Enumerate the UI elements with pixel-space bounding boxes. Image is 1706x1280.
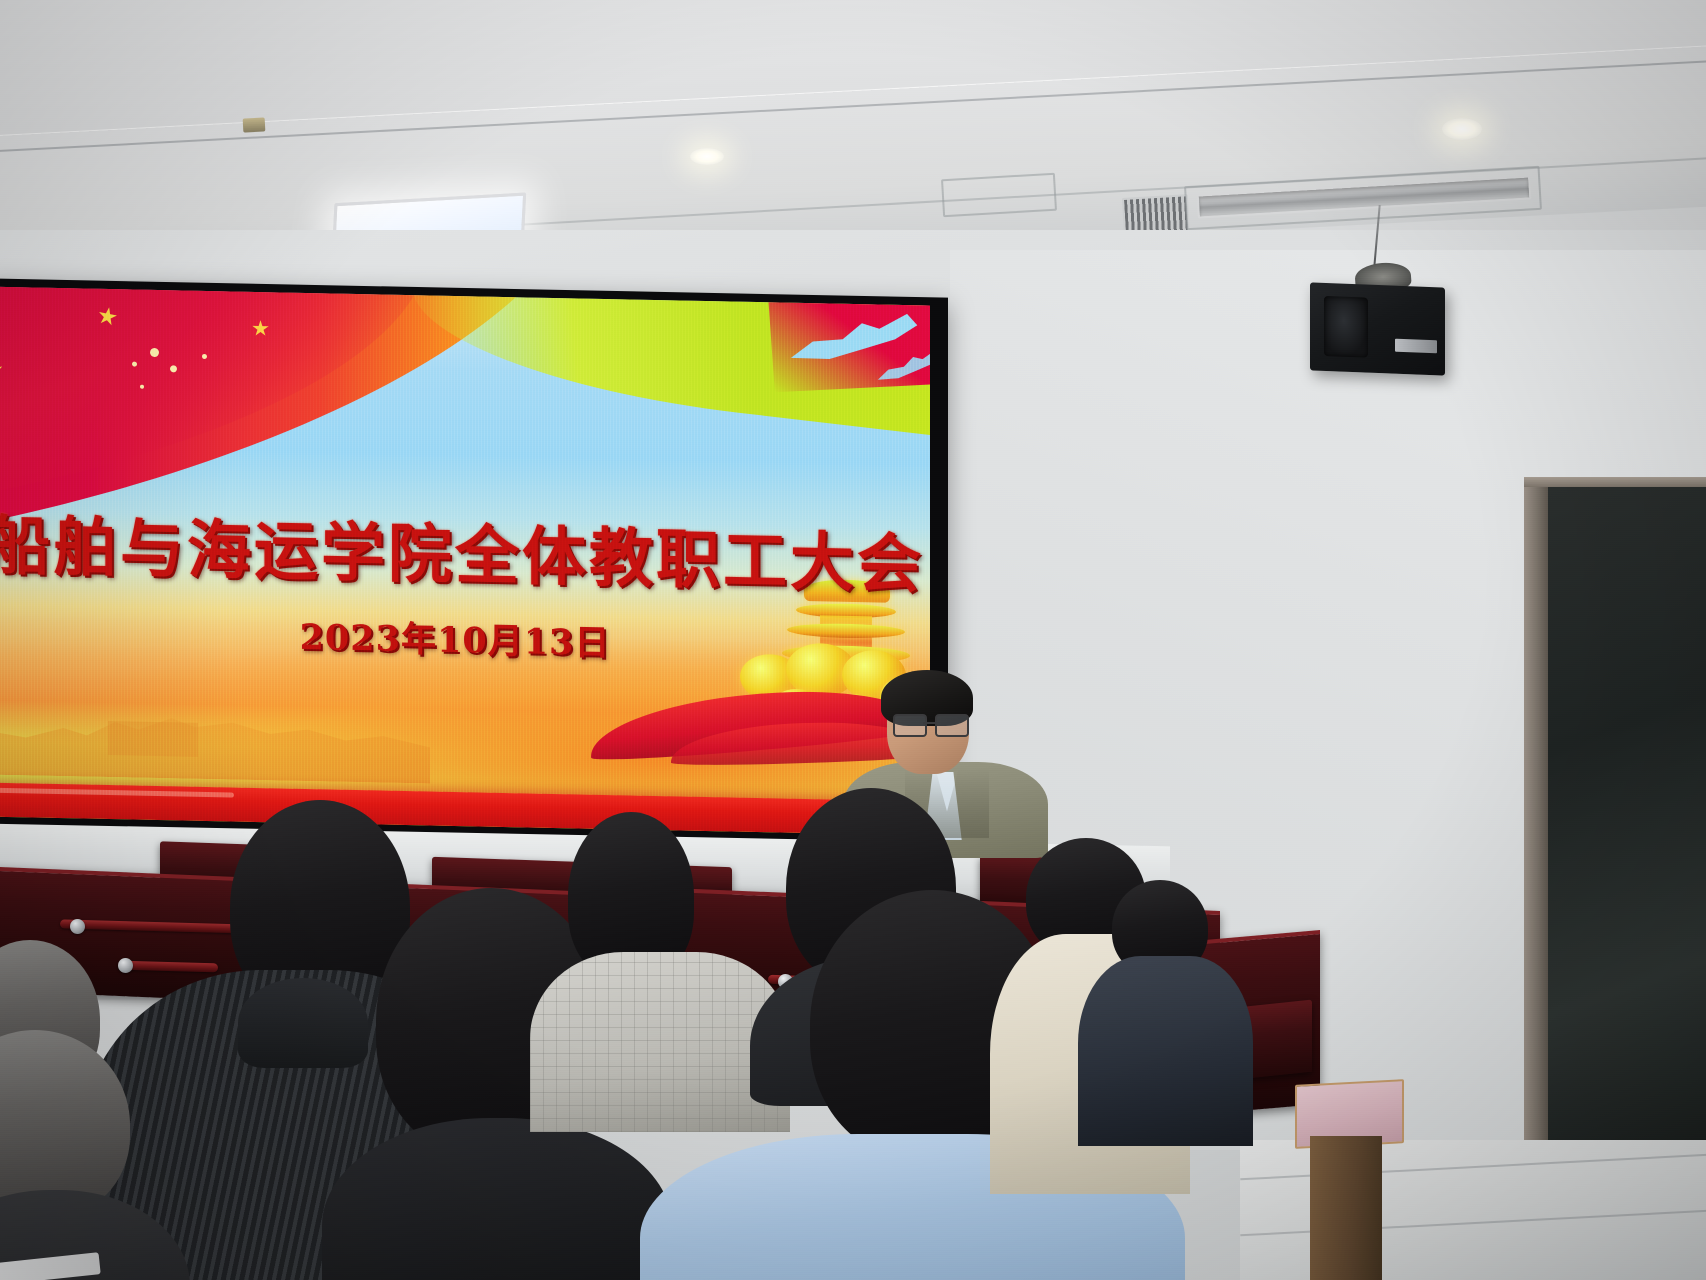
speaker-brand-badge <box>1395 339 1437 354</box>
audience-shoulders <box>322 1118 672 1280</box>
downlight-icon-right <box>1442 118 1482 140</box>
sparkle-speck-2 <box>132 362 137 367</box>
meeting-photo-scene: 船舶与海运学院全体教职工大会 2023年10月13日 <box>0 0 1706 1280</box>
sparkle-speck-1 <box>150 348 159 357</box>
audience-navy-right <box>1086 880 1246 1120</box>
sprinkler-head-icon <box>243 117 266 132</box>
speaker-cone-icon <box>1324 296 1368 358</box>
great-wall-tower <box>108 721 198 757</box>
glasses-lens-left <box>893 714 927 737</box>
sparkle-speck-5 <box>202 354 207 359</box>
glasses-lens-right <box>935 714 969 737</box>
wall-speaker <box>1310 282 1445 375</box>
audience-hood <box>238 978 368 1068</box>
ceiling-recess-outline <box>941 173 1057 217</box>
sparkle-speck-4 <box>140 385 144 389</box>
downlight-icon-left <box>690 148 724 165</box>
glasses-icon <box>893 714 967 734</box>
red-band-highlight <box>0 788 234 798</box>
presentation-screen[interactable]: 船舶与海运学院全体教职工大会 2023年10月13日 <box>0 286 930 835</box>
sparkle-speck-3 <box>170 365 177 372</box>
slide-title: 船舶与海运学院全体教职工大会 <box>0 494 930 605</box>
audience-shoulders <box>1078 956 1253 1146</box>
audience-far-left-bottom <box>0 1030 170 1280</box>
door-glass-panel[interactable] <box>1548 487 1706 1187</box>
door-frame <box>1524 487 1548 1187</box>
bench-end-leg <box>1310 1136 1382 1280</box>
